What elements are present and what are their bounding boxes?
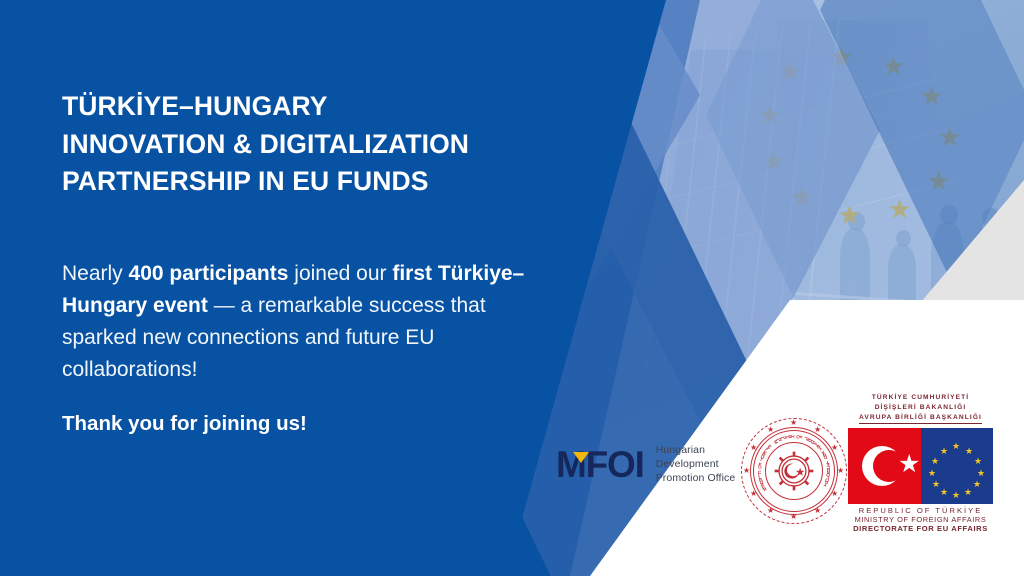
eua-tr-line-3: AVRUPA BİRLİĞİ BAŞKANLIĞI <box>859 413 982 424</box>
eu-flag-star-icon: ★ <box>940 447 948 456</box>
title-line-3: PARTNERSHIP IN EU FUNDS <box>62 163 532 201</box>
ministry-industry-seal: ★ ★ ★ ★ ★ ★ ★ ★ ★ ★ ★ ★ REPUBLIC OF TÜRK… <box>741 418 847 524</box>
thank-you-text: Thank you for joining us! <box>62 412 307 436</box>
eu-flag-star-icon: ★ <box>974 457 982 466</box>
mfoi-wordmark: MFOI <box>556 446 644 483</box>
eu-flag-star-icon: ★ <box>940 488 948 497</box>
eu-flag-star-icon: ★ <box>973 480 981 489</box>
mfoi-wordmark-text: MFOI <box>556 444 644 485</box>
seal-ring-char: Y <box>823 482 828 488</box>
crescent-icon <box>862 446 902 486</box>
mfoi-subtitle-line-1: Hungarian <box>656 443 736 457</box>
eua-english-caption: REPUBLIC OF TÜRKİYE MINISTRY OF FOREIGN … <box>848 506 993 533</box>
eua-en-line-1: REPUBLIC OF TÜRKİYE <box>848 506 993 515</box>
body-seg-3: joined our <box>288 262 392 285</box>
eu-affairs-emblem: TÜRKİYE CUMHURİYETİ DİŞİŞLERİ BAKANLIĞI … <box>848 393 993 533</box>
eu-flag-star-icon: ★ <box>931 457 939 466</box>
eu-flag-star-icon: ★ <box>932 480 940 489</box>
turkiye-eu-flag: ★ ★ ★ ★ ★ ★ ★ ★ ★ ★ ★ ★ ★ <box>848 428 993 504</box>
mfoi-logo: MFOI Hungarian Development Promotion Off… <box>556 443 735 486</box>
turkish-star-icon: ★ <box>898 452 920 477</box>
eu-flag-star-icon: ★ <box>928 469 936 478</box>
gear-crescent-icon <box>772 449 816 493</box>
body-seg-2-bold: 400 participants <box>129 262 289 285</box>
title-line-2: INNOVATION & DIGITALIZATION <box>62 126 532 164</box>
body-seg-1: Nearly <box>62 262 129 285</box>
slide-body-text: Nearly 400 participants joined our first… <box>62 258 562 386</box>
eua-en-line-3: DIRECTORATE FOR EU AFFAIRS <box>848 524 993 533</box>
mfoi-subtitle-line-3: Promotion Office <box>656 471 736 485</box>
eua-turkish-caption: TÜRKİYE CUMHURİYETİ DİŞİŞLERİ BAKANLIĞI … <box>848 393 993 424</box>
eu-flag-star-icon: ★ <box>952 491 960 500</box>
presentation-slide: ★ ★ ★ ★ ★ ★ ★ ★ ★ ★ ★ TÜRKİYE–HUNGARY IN… <box>0 0 1024 576</box>
eua-en-line-2: MINISTRY OF FOREIGN AFFAIRS <box>848 515 993 524</box>
eu-flag-star-icon: ★ <box>964 488 972 497</box>
slide-title: TÜRKİYE–HUNGARY INNOVATION & DIGITALIZAT… <box>62 88 532 201</box>
mfoi-subtitle: Hungarian Development Promotion Office <box>656 443 736 486</box>
eu-flag-star-icon: ★ <box>952 442 960 451</box>
eua-tr-line-1: TÜRKİYE CUMHURİYETİ <box>848 393 993 403</box>
title-line-1: TÜRKİYE–HUNGARY <box>62 88 532 126</box>
eu-flag-star-icon: ★ <box>977 469 985 478</box>
logo-row: MFOI Hungarian Development Promotion Off… <box>490 0 1024 576</box>
mfoi-subtitle-line-2: Development <box>656 457 736 471</box>
mfoi-triangle-icon <box>573 452 589 463</box>
eu-flag-star-icon: ★ <box>965 447 973 456</box>
eua-tr-line-2: DİŞİŞLERİ BAKANLIĞI <box>848 403 993 413</box>
